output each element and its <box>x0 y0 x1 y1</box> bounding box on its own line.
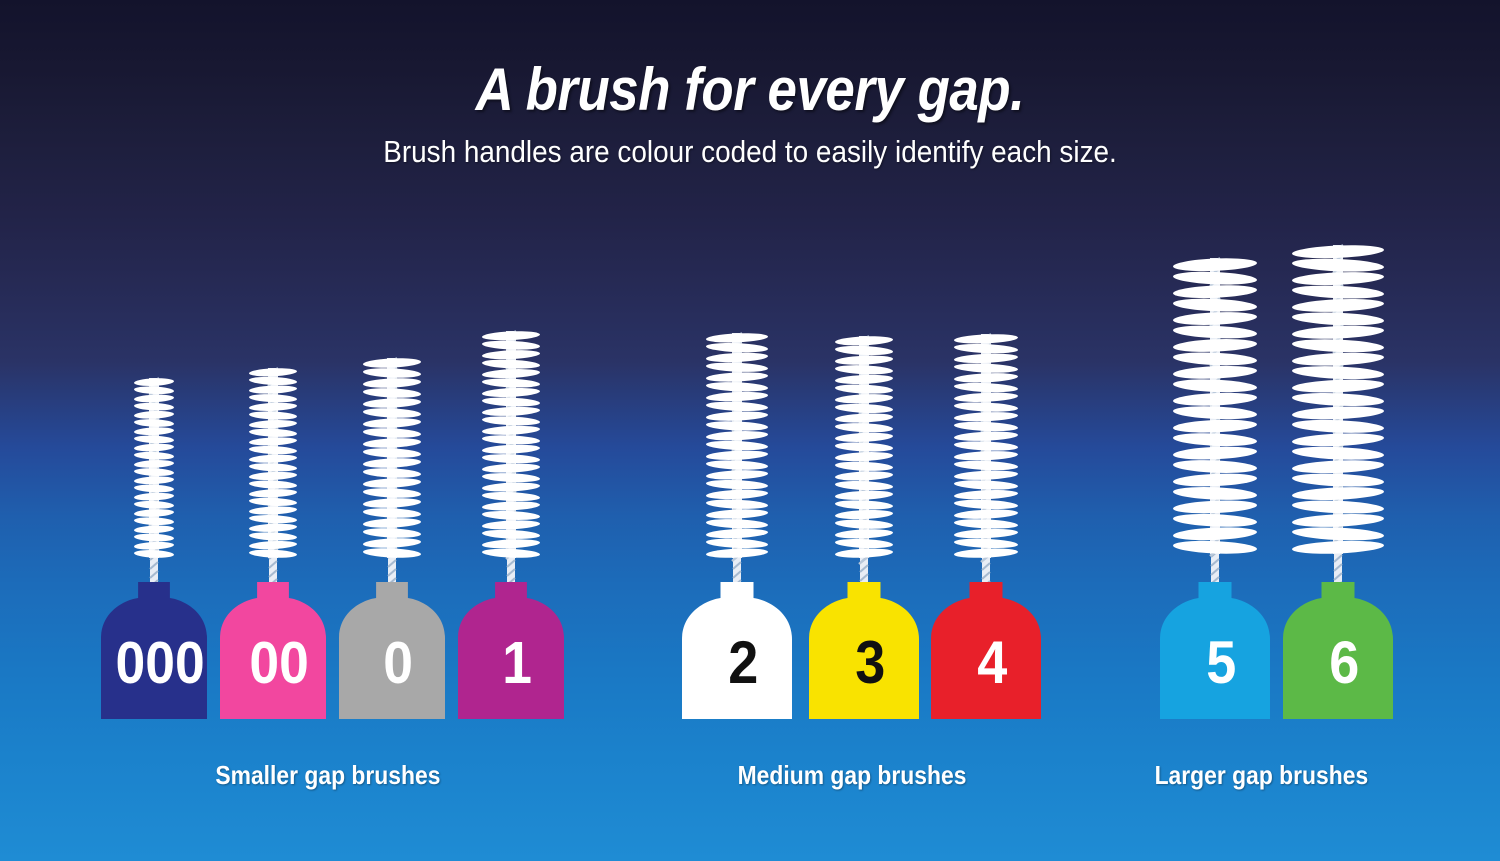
brush-head-0 <box>363 357 421 559</box>
brush-head-2 <box>706 332 768 561</box>
brush-size-label-1: 1 <box>502 629 532 695</box>
brush-size-label-5: 5 <box>1206 629 1236 696</box>
brush-graphic-000: 000 <box>93 372 215 861</box>
brush-head-4 <box>954 333 1018 562</box>
brush-head-5 <box>1173 257 1257 556</box>
brush-size-label-00: 00 <box>249 629 308 695</box>
group-caption-medium: Medium gap brushes <box>738 760 967 791</box>
group-caption-smaller: Smaller gap brushes <box>215 760 440 791</box>
brush-size-label-4: 4 <box>977 629 1007 696</box>
group-caption-larger: Larger gap brushes <box>1155 760 1369 791</box>
brush-size-label-3: 3 <box>855 629 885 696</box>
brush-000[interactable]: 000 <box>93 372 215 861</box>
brush-graphic-1: 1 <box>450 325 572 861</box>
brush-head-6 <box>1292 244 1384 556</box>
brush-head-00 <box>249 367 297 558</box>
brush-size-label-2: 2 <box>728 629 758 696</box>
brush-size-label-0: 0 <box>383 629 413 695</box>
page-subtitle: Brush handles are colour coded to easily… <box>75 135 1425 169</box>
brush-head-1 <box>482 330 540 559</box>
brush-1[interactable]: 1 <box>450 325 572 861</box>
page-title: A brush for every gap. <box>90 58 1410 121</box>
brush-head-000 <box>134 377 174 558</box>
brush-head-3 <box>835 335 893 564</box>
header-block: A brush for every gap. Brush handles are… <box>0 58 1500 169</box>
brush-size-label-6: 6 <box>1329 629 1359 696</box>
brush-size-label-000: 000 <box>116 629 205 695</box>
infographic-poster: A brush for every gap. Brush handles are… <box>0 0 1500 861</box>
